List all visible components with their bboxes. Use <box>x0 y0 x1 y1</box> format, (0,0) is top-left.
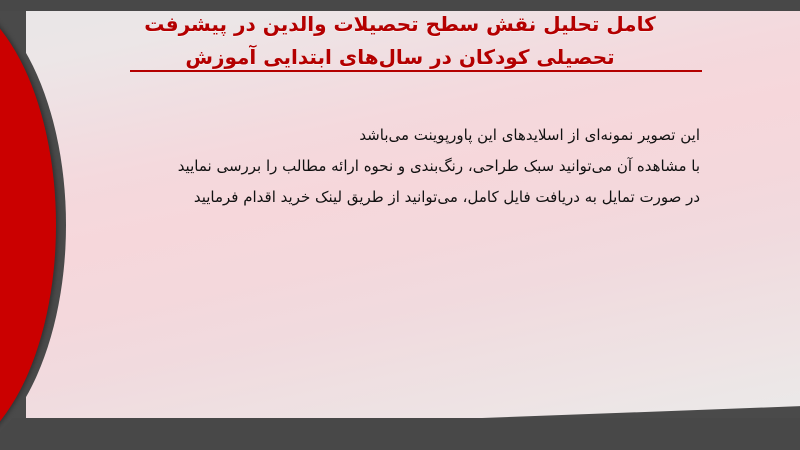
slide-title-line-1: کامل تحلیل نقش سطح تحصیلات والدین در پیش… <box>0 8 800 41</box>
background-arc-3 <box>26 11 800 435</box>
body-line-1: این تصویر نمونه‌ای از اسلایدهای این پاور… <box>80 120 700 151</box>
background-arc-5 <box>26 11 800 435</box>
background-arc-4 <box>26 11 800 435</box>
slide-body-text: این تصویر نمونه‌ای از اسلایدهای این پاور… <box>80 120 700 213</box>
background-arc-6 <box>26 11 800 435</box>
background-arc-1 <box>26 11 800 435</box>
slide-title: کامل تحلیل نقش سطح تحصیلات والدین در پیش… <box>0 8 800 74</box>
background-arc-2 <box>26 11 800 435</box>
background-arc-7 <box>137 11 800 435</box>
slide-background-panel <box>26 11 800 435</box>
title-underline-rule <box>130 70 702 72</box>
bottom-frame-bar <box>0 418 800 450</box>
presentation-slide: کامل تحلیل نقش سطح تحصیلات والدین در پیش… <box>0 0 800 450</box>
body-line-3: در صورت تمایل به دریافت فایل کامل، می‌تو… <box>80 182 700 213</box>
body-line-2: با مشاهده آن می‌توانید سبک طراحی، رنگ‌بن… <box>80 151 700 182</box>
